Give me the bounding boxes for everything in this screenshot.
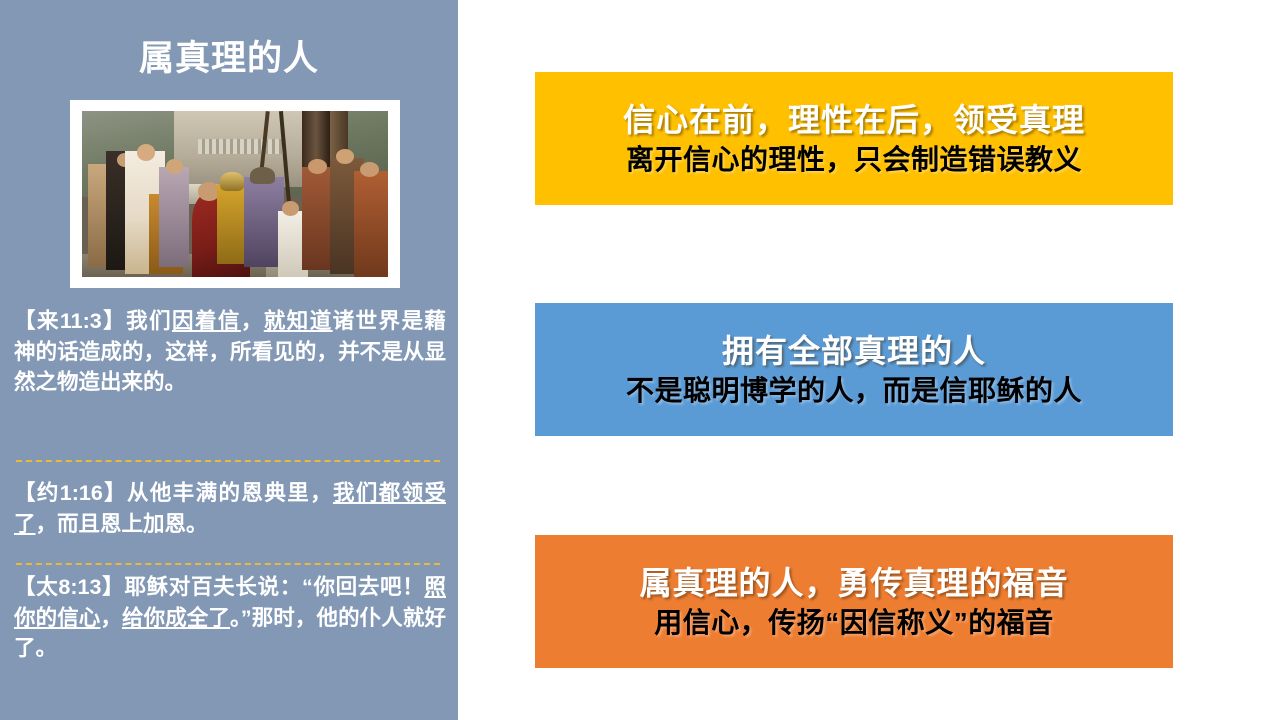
verse-divider: [16, 563, 440, 565]
panel-subline: 用信心，传扬“因信称义”的福音: [654, 605, 1054, 640]
sidebar-panel: 属真理的人: [0, 0, 458, 720]
painting-frame: [70, 100, 400, 288]
scripture-verse-john: 【约1:16】从他丰满的恩典里，我们都领受了，而且恩上加恩。: [14, 478, 446, 539]
verse-divider: [16, 460, 440, 462]
panel-subline: 不是聪明博学的人，而是信耶稣的人: [626, 373, 1082, 408]
panel-headline: 属真理的人，勇传真理的福音: [639, 563, 1068, 603]
highlight-panel-faith: 信心在前，理性在后，领受真理 离开信心的理性，只会制造错误教义: [535, 72, 1173, 205]
highlight-panel-truth: 拥有全部真理的人 不是聪明博学的人，而是信耶稣的人: [535, 303, 1173, 436]
page-title: 属真理的人: [0, 40, 458, 79]
verse-reference: 【太8:13】: [14, 575, 124, 599]
scripture-verse-matthew: 【太8:13】耶稣对百夫长说：“你回去吧！照你的信心，给你成全了。”那时，他的仆…: [14, 572, 446, 664]
verse-reference: 【约1:16】: [14, 481, 127, 505]
verse-reference: 【来11:3】: [14, 309, 126, 333]
panel-headline: 信心在前，理性在后，领受真理: [623, 100, 1085, 140]
painting-image: [82, 111, 388, 277]
panel-subline: 离开信心的理性，只会制造错误教义: [626, 142, 1082, 177]
slide-canvas: 属真理的人: [0, 0, 1280, 720]
highlight-panel-gospel: 属真理的人，勇传真理的福音 用信心，传扬“因信称义”的福音: [535, 535, 1173, 668]
panel-headline: 拥有全部真理的人: [722, 331, 986, 371]
scripture-verse-hebrews: 【来11:3】我们因着信，就知道诸世界是藉 神的话造成的，这样，所看见的，并不是…: [14, 306, 446, 398]
